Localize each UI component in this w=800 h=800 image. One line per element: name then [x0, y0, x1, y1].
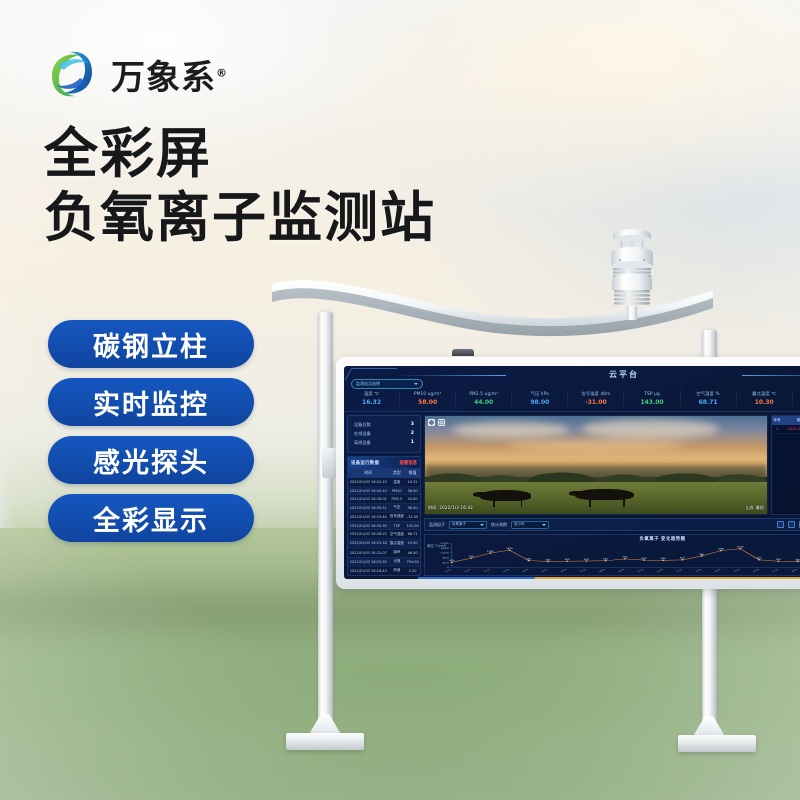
table-row[interactable]: 2022/01/03 16:22:07噪声46.40 — [348, 548, 420, 557]
svg-text:1420: 1420 — [506, 548, 514, 550]
svg-text:1180: 1180 — [487, 551, 495, 553]
stat-row-offline: 离线设备 1 — [354, 438, 414, 447]
stat-label: 离线设备 — [354, 440, 371, 446]
svg-text:09:00: 09:00 — [617, 568, 626, 572]
dashboard-right-column: 时间: 2022/1/3 16:42 山东 潍坊 序号 报警时间 报警内容 1 — [424, 415, 800, 576]
cow-leg — [493, 500, 495, 507]
svg-text:500: 500 — [565, 559, 571, 561]
cell-value: 98.00 — [405, 503, 420, 512]
metric-label: 露点温度 ℃ — [737, 390, 792, 398]
alarm-col-index: 序号 — [772, 418, 782, 423]
metric-value: 143.00 — [624, 398, 679, 407]
svg-text:420: 420 — [449, 560, 455, 562]
svg-text:15:00: 15:00 — [733, 568, 742, 572]
cell-value: 58.00 — [405, 487, 420, 495]
base-plate-left — [286, 733, 364, 750]
metric-pressure: 气压 kPa 98.00 — [511, 390, 567, 407]
svg-text:500: 500 — [776, 559, 782, 561]
video-cloud — [452, 422, 568, 438]
metric-humidity: 空气湿度 % 68.71 — [680, 390, 736, 407]
monitoring-station-product: 云平台 监测站点选择 WEATHER 气象站 监测 在线 温度 ℃ 16.32 … — [0, 0, 800, 800]
cell-type: 信号强度 — [389, 512, 406, 521]
video-cloud — [582, 419, 719, 439]
cell-time: 2022/01/03 16:28:25 — [348, 530, 389, 539]
table-row[interactable]: 2022/01/03 16:33:44信号强度-31.00 — [348, 512, 420, 521]
svg-text:620: 620 — [680, 557, 686, 559]
records-table-body: 2022/01/03 16:42:19温度16.322022/01/03 16:… — [348, 478, 420, 576]
factor-select-value: 负氧离子 — [452, 522, 466, 527]
cell-type: 光照 — [389, 557, 406, 566]
svg-text:18:00: 18:00 — [790, 568, 799, 572]
cell-time: 2022/01/03 16:40:10 — [348, 487, 389, 495]
dashboard-header: 云平台 监测站点选择 WEATHER 气象站 监测 在线 温度 ℃ 16.32 … — [344, 366, 800, 412]
svg-text:13:00: 13:00 — [694, 568, 703, 572]
bottom-tab-strip — [418, 577, 800, 579]
metric-value: -31.00 — [568, 398, 623, 407]
video-scene — [425, 416, 767, 514]
cow-leg — [521, 500, 523, 507]
stat-row-online: 在线设备 2 — [354, 429, 414, 438]
video-timestamp: 时间: 2022/1/3 16:42 — [428, 505, 473, 511]
cell-time: 2022/01/03 16:18:43 — [348, 566, 389, 575]
cell-value: 794.00 — [405, 557, 420, 566]
cell-type: PM2.5 — [389, 495, 406, 503]
table-row[interactable]: 2022/01/03 16:42:19温度16.32 — [348, 478, 420, 487]
svg-text:00:00: 00:00 — [444, 568, 453, 572]
svg-text:14:00: 14:00 — [714, 568, 723, 572]
metric-pm10: PM10 ug/m³ 58.00 — [399, 390, 455, 407]
col-type: 类型 — [389, 468, 406, 478]
metric-value: 68.71 — [681, 398, 736, 407]
video-channel-tag: 山东 潍坊 — [746, 505, 764, 511]
metric-value: 44.00 — [456, 398, 511, 407]
metric-value: 98.00 — [512, 398, 567, 407]
cell-time: 2022/01/03 16:22:07 — [348, 548, 389, 557]
svg-text:04:00: 04:00 — [521, 568, 530, 572]
col-time: 时间 — [348, 468, 389, 478]
table-row[interactable]: 2022/01/03 16:40:10PM1058.00 — [348, 487, 420, 495]
metric-label: 噪声 db — [793, 390, 800, 398]
display-screen-bezel: 云平台 监测站点选择 WEATHER 气象站 监测 在线 温度 ℃ 16.32 … — [336, 357, 800, 589]
table-row[interactable]: 2022/01/03 16:25:18露点温度10.30 — [348, 539, 420, 548]
table-row[interactable]: 2022/01/03 16:20:55光照794.00 — [348, 557, 420, 566]
fullscreen-icon[interactable] — [428, 419, 435, 426]
svg-text:940: 940 — [699, 553, 705, 555]
metric-label: PM2.5 ug/m³ — [456, 390, 511, 398]
alarm-row[interactable]: 1 2022-01-03 14:10 PM2.5浓度超标，请注意防护 — [772, 425, 800, 434]
period-label: 统计周期 — [491, 522, 507, 528]
base-plate-right — [678, 735, 756, 752]
chevron-down-icon — [414, 383, 418, 385]
records-panel-header: 设备运行数据 报警信息 — [348, 457, 420, 468]
svg-text:700: 700 — [622, 556, 628, 558]
metric-value: 58.00 — [400, 398, 455, 407]
metric-pm25: PM2.5 ug/m³ 44.00 — [455, 390, 511, 407]
cell-type: PM10 — [389, 487, 406, 495]
table-row[interactable]: 2022/01/03 16:38:02PM2.544.00 — [348, 495, 420, 503]
alarm-badge[interactable]: 报警信息 — [399, 460, 417, 466]
screen-top-sensor-nub — [452, 349, 474, 356]
cell-value: 68.71 — [405, 530, 420, 539]
alarm-list-panel: 序号 报警时间 报警内容 1 2022-01-03 14:10 PM2.5浓度超… — [771, 415, 800, 515]
metric-tsp: TSP µg 143.00 — [623, 390, 679, 407]
site-select-dropdown[interactable]: 监测站点选择 — [351, 379, 423, 389]
metric-noise: 噪声 db 46.40 — [792, 390, 800, 407]
cell-value: 16.32 — [405, 478, 420, 487]
svg-text:12:00: 12:00 — [675, 568, 684, 572]
trend-chart-panel: 负氧离子 变化趋势图 负氧离子 平均值 单位(个/cm³) — [424, 534, 800, 576]
records-panel-title: 设备运行数据 — [351, 460, 379, 466]
svg-text:06:00: 06:00 — [560, 568, 569, 572]
metric-value: 46.40 — [793, 398, 800, 407]
cell-time: 2022/01/03 16:20:55 — [348, 557, 389, 566]
svg-text:760: 760 — [469, 556, 475, 558]
chevron-down-icon — [480, 524, 484, 526]
cell-value: 44.00 — [405, 495, 420, 503]
svg-text:08:00: 08:00 — [598, 568, 607, 572]
alarm-time: 2022-01-03 14:10 — [782, 427, 800, 431]
alarm-index: 1 — [772, 427, 782, 431]
svg-text:800: 800 — [442, 557, 449, 560]
svg-text:02:00: 02:00 — [483, 568, 492, 572]
metric-label: 空气湿度 % — [681, 390, 736, 398]
settings-icon[interactable] — [438, 419, 445, 426]
metric-label: 温度 ℃ — [344, 390, 399, 398]
video-control-group[interactable] — [428, 419, 445, 426]
svg-text:1600: 1600 — [440, 547, 449, 550]
cell-value: -31.00 — [405, 512, 420, 521]
cell-value: 1.20 — [405, 566, 420, 575]
video-cloud — [507, 440, 685, 452]
cell-value: 10.30 — [405, 539, 420, 548]
period-select[interactable]: 按小时 — [511, 521, 549, 529]
cow-leg — [589, 499, 591, 507]
cell-type: 温度 — [389, 478, 406, 487]
cell-type: TSP — [389, 521, 406, 529]
alarm-header-row: 序号 报警时间 报警内容 — [772, 416, 800, 425]
svg-text:17:00: 17:00 — [771, 568, 780, 572]
metric-label: TSP µg — [624, 390, 679, 398]
svg-text:480: 480 — [795, 559, 800, 561]
stat-label: 设备总数 — [354, 422, 371, 428]
device-stats-box: 设备总数 3 在线设备 2 离线设备 1 — [347, 415, 421, 453]
svg-text:560: 560 — [526, 558, 532, 560]
svg-text:600: 600 — [641, 558, 647, 560]
svg-text:03:00: 03:00 — [502, 568, 511, 572]
svg-text:2000: 2000 — [440, 542, 449, 545]
table-row[interactable]: 2022/01/03 16:28:25空气湿度68.71 — [348, 530, 420, 539]
table-row[interactable]: 2022/01/03 16:30:39TSP143.00 — [348, 521, 420, 529]
svg-text:1380: 1380 — [717, 548, 725, 550]
svg-text:1540: 1540 — [737, 546, 745, 548]
cell-type: 气压 — [389, 503, 406, 512]
stat-value: 1 — [411, 440, 414, 445]
site-select-value: 监测站点选择 — [356, 381, 380, 387]
metric-signal-strength: 信号强度 dbm -31.00 — [567, 390, 623, 407]
cell-time: 2022/01/03 16:38:02 — [348, 495, 389, 503]
cow-leg — [623, 499, 625, 507]
svg-text:400: 400 — [442, 561, 449, 564]
metric-value: 16.32 — [344, 398, 399, 407]
records-table-header-row: 时间 类型 数值 — [348, 468, 420, 478]
cell-time: 2022/01/03 16:35:51 — [348, 503, 389, 512]
svg-text:10:00: 10:00 — [637, 568, 646, 572]
table-row[interactable]: 2022/01/03 16:18:43风速1.20 — [348, 566, 420, 575]
stat-value: 2 — [411, 431, 414, 436]
table-view-icon[interactable] — [777, 521, 784, 528]
svg-text:520: 520 — [584, 559, 590, 561]
metric-readout-row: 温度 ℃ 16.32 PM10 ug/m³ 58.00 PM2.5 ug/m³ … — [344, 390, 800, 407]
trend-line-chart: 040080012001600200042000:0076001:0011800… — [425, 541, 800, 575]
video-and-alarm-row: 时间: 2022/1/3 16:42 山东 潍坊 序号 报警时间 报警内容 1 — [424, 415, 800, 515]
svg-text:620: 620 — [757, 557, 763, 559]
camera-video-feed[interactable]: 时间: 2022/1/3 16:42 山东 潍坊 — [424, 415, 768, 515]
svg-text:580: 580 — [661, 558, 667, 560]
dashboard-left-column: 设备总数 3 在线设备 2 离线设备 1 — [347, 415, 421, 576]
cell-time: 2022/01/03 16:25:18 — [348, 539, 389, 548]
svg-text:05:00: 05:00 — [541, 568, 550, 572]
metric-label: 气压 kPa — [512, 390, 567, 398]
table-row[interactable]: 2022/01/03 16:35:51气压98.00 — [348, 503, 420, 512]
cell-type: 露点温度 — [389, 539, 406, 548]
cell-type: 风速 — [389, 566, 406, 575]
ultrasonic-weather-sensor — [600, 222, 664, 320]
metric-dew-point: 露点温度 ℃ 10.30 — [736, 390, 792, 407]
records-table: 时间 类型 数值 2022/01/03 16:42:19温度16.322022/… — [348, 468, 420, 576]
dashboard-screen[interactable]: 云平台 监测站点选择 WEATHER 气象站 监测 在线 温度 ℃ 16.32 … — [344, 366, 800, 579]
stat-value: 3 — [411, 422, 414, 427]
cell-time: 2022/01/03 16:30:39 — [348, 521, 389, 529]
cell-value: 46.40 — [405, 548, 420, 557]
stat-label: 在线设备 — [354, 431, 371, 437]
svg-text:540: 540 — [603, 558, 609, 560]
cell-time: 2022/01/03 16:33:44 — [348, 512, 389, 521]
svg-text:0: 0 — [447, 566, 449, 569]
period-select-value: 按小时 — [514, 522, 525, 527]
factor-label: 监测因子 — [429, 522, 445, 528]
support-pole-left — [318, 312, 333, 737]
svg-text:11:00: 11:00 — [656, 568, 665, 572]
svg-text:01:00: 01:00 — [464, 568, 473, 572]
metric-label: 信号强度 dbm — [568, 390, 623, 398]
chart-view-icon[interactable] — [788, 521, 795, 528]
device-records-panel: 设备运行数据 报警信息 时间 类型 数值 2022/01/03 16:42:19… — [347, 456, 421, 576]
svg-text:480: 480 — [545, 559, 551, 561]
svg-text:16:00: 16:00 — [752, 568, 761, 572]
cell-type: 噪声 — [389, 548, 406, 557]
cow-head — [569, 491, 586, 496]
dashboard-body: 设备总数 3 在线设备 2 离线设备 1 — [344, 412, 800, 579]
svg-text:1200: 1200 — [440, 552, 449, 555]
metric-value: 10.30 — [737, 398, 792, 407]
alarm-col-time: 报警时间 — [782, 418, 800, 423]
metric-label: PM10 ug/m³ — [400, 390, 455, 398]
cell-time: 2022/01/03 16:42:19 — [348, 478, 389, 487]
chevron-down-icon — [542, 524, 546, 526]
cell-value: 143.00 — [405, 521, 420, 529]
stat-row-total: 设备总数 3 — [354, 420, 414, 429]
metric-temperature: 温度 ℃ 16.32 — [344, 390, 399, 407]
factor-select[interactable]: 负氧离子 — [449, 521, 487, 529]
svg-text:07:00: 07:00 — [579, 568, 588, 572]
col-value: 数值 — [405, 468, 420, 478]
chart-control-bar: 监测因子 负氧离子 统计周期 按小时 — [424, 518, 800, 531]
cell-type: 空气湿度 — [389, 530, 406, 539]
